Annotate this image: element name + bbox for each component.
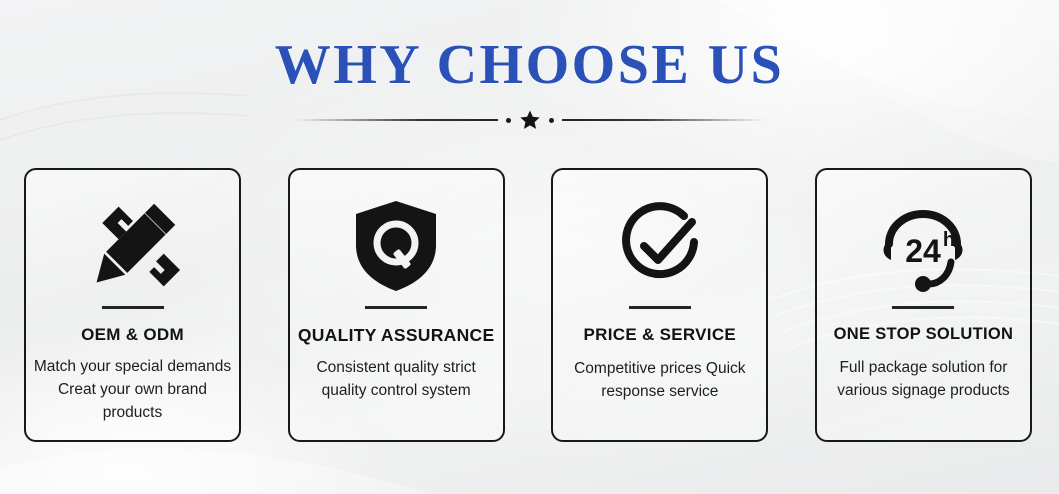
card-rule [102, 306, 164, 309]
card-title: ONE STOP SOLUTION [834, 325, 1014, 344]
page-title: WHY CHOOSE US [0, 34, 1059, 96]
card-title: OEM & ODM [81, 325, 184, 345]
card-body: Full package solution for various signag… [817, 356, 1030, 402]
card-body: Consistent quality strict quality contro… [290, 356, 503, 402]
svg-text:24: 24 [906, 233, 942, 269]
card-rule [365, 306, 427, 309]
header: WHY CHOOSE US [0, 34, 1059, 132]
feature-card-one-stop-solution[interactable]: 24 h ONE STOP SOLUTION Full package solu… [815, 168, 1032, 442]
circle-check-icon [614, 192, 706, 300]
dot-icon [549, 118, 554, 123]
card-rule [629, 306, 691, 309]
why-choose-us-poster: WHY CHOOSE US [0, 0, 1059, 494]
feature-card-quality-assurance[interactable]: QUALITY ASSURANCE Consistent quality str… [288, 168, 505, 442]
svg-text:h: h [943, 229, 955, 251]
feature-card-list: OEM & ODM Match your special demands Cre… [24, 168, 1032, 442]
title-ornament-divider [295, 108, 765, 132]
divider-rule-left [295, 119, 498, 121]
card-rule [892, 306, 954, 309]
divider-rule-right [562, 119, 765, 121]
card-title: QUALITY ASSURANCE [298, 325, 495, 346]
dot-icon [506, 118, 511, 123]
pencil-ruler-icon [85, 192, 181, 300]
headset-24h-icon: 24 h [873, 192, 973, 300]
card-body: Competitive prices Quick response servic… [553, 357, 766, 403]
card-title: PRICE & SERVICE [584, 325, 737, 345]
feature-card-oem-odm[interactable]: OEM & ODM Match your special demands Cre… [24, 168, 241, 442]
star-icon [519, 109, 541, 131]
feature-card-price-service[interactable]: PRICE & SERVICE Competitive prices Quick… [551, 168, 768, 442]
card-body: Match your special demands Creat your ow… [26, 355, 239, 424]
shield-quality-icon [352, 192, 440, 300]
